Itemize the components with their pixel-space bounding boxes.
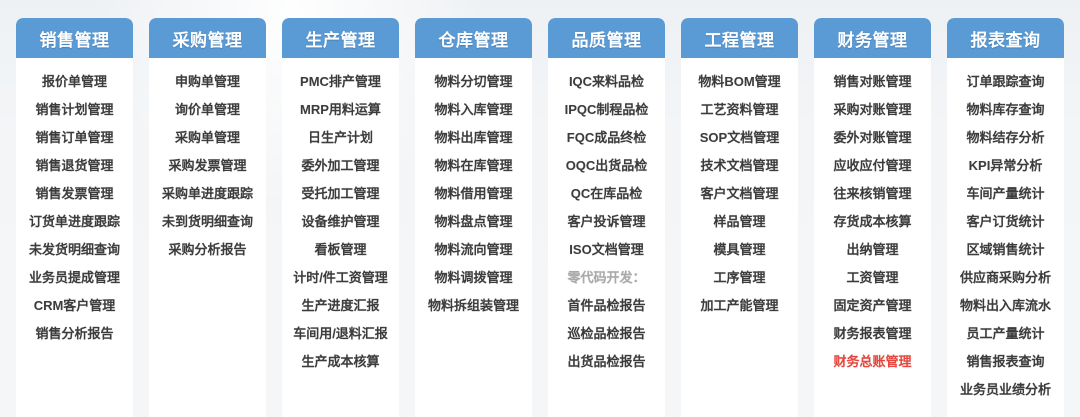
module-item[interactable]: 应收应付管理	[814, 151, 931, 179]
module-item[interactable]: 受托加工管理	[282, 179, 399, 207]
module-item[interactable]: 计时/件工资管理	[282, 263, 399, 291]
module-column: 仓库管理物料分切管理物料入库管理物料出库管理物料在库管理物料借用管理物料盘点管理…	[415, 18, 532, 417]
module-item[interactable]: 物料出入库流水	[947, 291, 1064, 319]
module-item-list: 订单跟踪查询物料库存查询物料结存分析KPI异常分析车间产量统计客户订货统计区域销…	[947, 58, 1064, 417]
module-item[interactable]: 区域销售统计	[947, 235, 1064, 263]
module-column-header[interactable]: 生产管理	[282, 18, 399, 58]
module-item[interactable]: 样品管理	[681, 207, 798, 235]
module-column-header[interactable]: 采购管理	[149, 18, 266, 58]
module-item[interactable]: FQC成品终检	[548, 123, 665, 151]
module-item[interactable]: 工资管理	[814, 263, 931, 291]
module-item[interactable]: 询价单管理	[149, 95, 266, 123]
module-item[interactable]: 销售报表查询	[947, 347, 1064, 375]
module-item-list: 物料BOM管理工艺资料管理SOP文档管理技术文档管理客户文档管理样品管理模具管理…	[681, 58, 798, 417]
module-item[interactable]: 工序管理	[681, 263, 798, 291]
module-item-list: IQC来料品检IPQC制程品检FQC成品终检OQC出货品检QC在库品检客户投诉管…	[548, 58, 665, 417]
module-item[interactable]: 客户投诉管理	[548, 207, 665, 235]
module-item[interactable]: IQC来料品检	[548, 67, 665, 95]
module-item[interactable]: 技术文档管理	[681, 151, 798, 179]
module-item[interactable]: 往来核销管理	[814, 179, 931, 207]
module-item[interactable]: 固定资产管理	[814, 291, 931, 319]
module-item[interactable]: 物料BOM管理	[681, 67, 798, 95]
module-item[interactable]: 物料出库管理	[415, 123, 532, 151]
module-item[interactable]: 采购分析报告	[149, 235, 266, 263]
module-item[interactable]: 日生产计划	[282, 123, 399, 151]
module-column-header[interactable]: 报表查询	[947, 18, 1064, 58]
module-column: 报表查询订单跟踪查询物料库存查询物料结存分析KPI异常分析车间产量统计客户订货统…	[947, 18, 1064, 417]
module-item[interactable]: 客户订货统计	[947, 207, 1064, 235]
module-item[interactable]: 报价单管理	[16, 67, 133, 95]
module-item[interactable]: QC在库品检	[548, 179, 665, 207]
module-item[interactable]: 物料结存分析	[947, 123, 1064, 151]
module-item[interactable]: 销售发票管理	[16, 179, 133, 207]
module-item[interactable]: 存货成本核算	[814, 207, 931, 235]
module-item[interactable]: 未到货明细查询	[149, 207, 266, 235]
module-item-list: 申购单管理询价单管理采购单管理采购发票管理采购单进度跟踪未到货明细查询采购分析报…	[149, 58, 266, 417]
module-column: 生产管理PMC排产管理MRP用料运算日生产计划委外加工管理受托加工管理设备维护管…	[282, 18, 399, 417]
module-item[interactable]: 采购单管理	[149, 123, 266, 151]
module-item[interactable]: 财务总账管理	[814, 347, 931, 375]
module-column-header[interactable]: 财务管理	[814, 18, 931, 58]
module-item-list: PMC排产管理MRP用料运算日生产计划委外加工管理受托加工管理设备维护管理看板管…	[282, 58, 399, 417]
module-column: 采购管理申购单管理询价单管理采购单管理采购发票管理采购单进度跟踪未到货明细查询采…	[149, 18, 266, 417]
module-item[interactable]: MRP用料运算	[282, 95, 399, 123]
module-item[interactable]: 首件品检报告	[548, 291, 665, 319]
module-item[interactable]: 物料流向管理	[415, 235, 532, 263]
module-item[interactable]: 委外对账管理	[814, 123, 931, 151]
module-item[interactable]: 销售订单管理	[16, 123, 133, 151]
module-item[interactable]: 模具管理	[681, 235, 798, 263]
module-item[interactable]: 物料入库管理	[415, 95, 532, 123]
module-item[interactable]: 采购对账管理	[814, 95, 931, 123]
module-item[interactable]: PMC排产管理	[282, 67, 399, 95]
module-column-header[interactable]: 销售管理	[16, 18, 133, 58]
module-item[interactable]: 销售计划管理	[16, 95, 133, 123]
module-item[interactable]: SOP文档管理	[681, 123, 798, 151]
module-item[interactable]: IPQC制程品检	[548, 95, 665, 123]
module-column: 销售管理报价单管理销售计划管理销售订单管理销售退货管理销售发票管理订货单进度跟踪…	[16, 18, 133, 417]
module-item[interactable]: 物料拆组装管理	[415, 291, 532, 319]
module-item[interactable]: 物料库存查询	[947, 95, 1064, 123]
module-item[interactable]: 未发货明细查询	[16, 235, 133, 263]
module-item[interactable]: 销售退货管理	[16, 151, 133, 179]
module-item[interactable]: OQC出货品检	[548, 151, 665, 179]
module-column: 工程管理物料BOM管理工艺资料管理SOP文档管理技术文档管理客户文档管理样品管理…	[681, 18, 798, 417]
module-item-section-label: 零代码开发：	[548, 263, 665, 291]
module-item[interactable]: KPI异常分析	[947, 151, 1064, 179]
module-item[interactable]: ISO文档管理	[548, 235, 665, 263]
module-item-list: 报价单管理销售计划管理销售订单管理销售退货管理销售发票管理订货单进度跟踪未发货明…	[16, 58, 133, 417]
module-item-list: 物料分切管理物料入库管理物料出库管理物料在库管理物料借用管理物料盘点管理物料流向…	[415, 58, 532, 417]
module-item[interactable]: 物料盘点管理	[415, 207, 532, 235]
module-item[interactable]: 员工产量统计	[947, 319, 1064, 347]
module-item[interactable]: 生产进度汇报	[282, 291, 399, 319]
module-item[interactable]: 巡检品检报告	[548, 319, 665, 347]
module-item[interactable]: 看板管理	[282, 235, 399, 263]
module-item[interactable]: 业务员提成管理	[16, 263, 133, 291]
module-item[interactable]: 物料借用管理	[415, 179, 532, 207]
module-item[interactable]: 客户文档管理	[681, 179, 798, 207]
module-item[interactable]: 出纳管理	[814, 235, 931, 263]
module-item[interactable]: 车间产量统计	[947, 179, 1064, 207]
module-item[interactable]: 订货单进度跟踪	[16, 207, 133, 235]
module-item-list: 销售对账管理采购对账管理委外对账管理应收应付管理往来核销管理存货成本核算出纳管理…	[814, 58, 931, 417]
module-item[interactable]: 业务员业绩分析	[947, 375, 1064, 403]
module-item[interactable]: 采购发票管理	[149, 151, 266, 179]
module-item[interactable]: 销售分析报告	[16, 319, 133, 347]
module-item[interactable]: CRM客户管理	[16, 291, 133, 319]
module-item[interactable]: 设备维护管理	[282, 207, 399, 235]
module-item[interactable]: 委外加工管理	[282, 151, 399, 179]
module-column-header[interactable]: 仓库管理	[415, 18, 532, 58]
module-item[interactable]: 供应商采购分析	[947, 263, 1064, 291]
module-item[interactable]: 车间用/退料汇报	[282, 319, 399, 347]
module-item[interactable]: 工艺资料管理	[681, 95, 798, 123]
module-item[interactable]: 加工产能管理	[681, 291, 798, 319]
module-column: 财务管理销售对账管理采购对账管理委外对账管理应收应付管理往来核销管理存货成本核算…	[814, 18, 931, 417]
module-column-header[interactable]: 工程管理	[681, 18, 798, 58]
module-item[interactable]: 物料分切管理	[415, 67, 532, 95]
module-item[interactable]: 订单跟踪查询	[947, 67, 1064, 95]
module-board: 销售管理报价单管理销售计划管理销售订单管理销售退货管理销售发票管理订货单进度跟踪…	[0, 0, 1080, 417]
module-item[interactable]: 物料调拨管理	[415, 263, 532, 291]
module-item[interactable]: 申购单管理	[149, 67, 266, 95]
module-column: 品质管理IQC来料品检IPQC制程品检FQC成品终检OQC出货品检QC在库品检客…	[548, 18, 665, 417]
module-item[interactable]: 采购单进度跟踪	[149, 179, 266, 207]
module-item[interactable]: 出货品检报告	[548, 347, 665, 375]
module-item[interactable]: 生产成本核算	[282, 347, 399, 375]
module-item[interactable]: 销售对账管理	[814, 67, 931, 95]
module-item[interactable]: 财务报表管理	[814, 319, 931, 347]
module-item[interactable]: 物料在库管理	[415, 151, 532, 179]
module-column-header[interactable]: 品质管理	[548, 18, 665, 58]
